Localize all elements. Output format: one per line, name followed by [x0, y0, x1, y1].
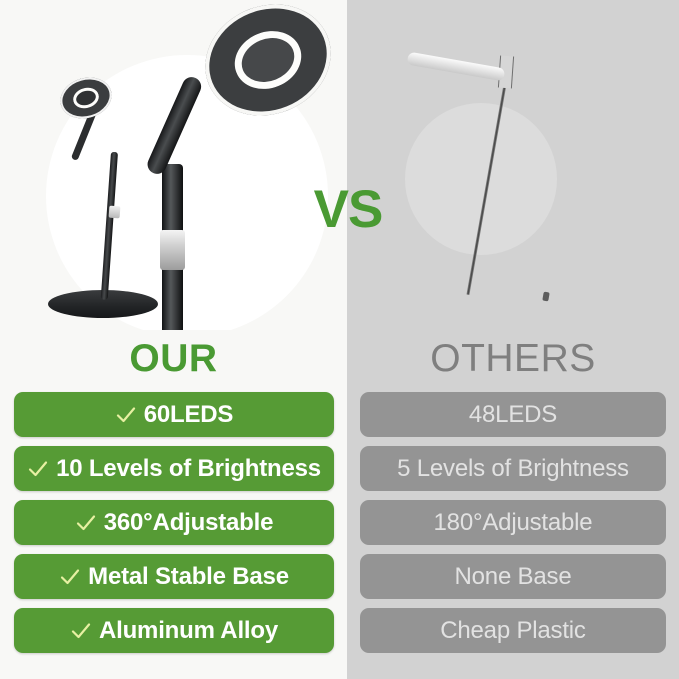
our-feature-row-3: 360°Adjustable [14, 500, 334, 545]
others-feature-row-2: 5 Levels of Brightness [360, 446, 666, 491]
others-heading: OTHERS [347, 336, 679, 382]
our-feature-row-1: 60LEDS [14, 392, 334, 437]
lamp-ring-head [55, 72, 116, 125]
others-feature-label: 180°Adjustable [434, 511, 593, 535]
our-feature-row-4: Metal Stable Base [14, 554, 334, 599]
check-icon [75, 512, 97, 534]
others-product-image [347, 0, 679, 330]
others-feature-label: Cheap Plastic [440, 619, 585, 643]
lamp-shade [407, 52, 506, 82]
others-feature-row-5: Cheap Plastic [360, 608, 666, 653]
others-feature-row-3: 180°Adjustable [360, 500, 666, 545]
lamp-neck [145, 74, 205, 177]
product-comparison-infographic: VS OUR OTHERS 60LEDS 10 Levels of Bright… [0, 0, 679, 679]
lamp-tip [542, 292, 549, 302]
lamp-collar [160, 230, 185, 270]
our-feature-label: 10 Levels of Brightness [56, 457, 321, 481]
our-product-image [0, 0, 347, 330]
vs-badge: VS [306, 183, 390, 236]
check-icon [70, 620, 92, 642]
our-feature-label: 60LEDS [144, 403, 234, 427]
check-icon [27, 458, 49, 480]
our-heading: OUR [0, 336, 347, 382]
others-feature-label: 5 Levels of Brightness [397, 457, 629, 481]
others-lamp-icon [387, 12, 617, 312]
lamp-stem [466, 76, 508, 295]
others-feature-row-4: None Base [360, 554, 666, 599]
others-feature-label: 48LEDS [469, 403, 557, 427]
our-feature-label: 360°Adjustable [104, 511, 274, 535]
our-feature-row-5: Aluminum Alloy [14, 608, 334, 653]
our-lamp-primary-icon [128, 4, 347, 330]
our-feature-list: 60LEDS 10 Levels of Brightness 360°Adjus… [14, 392, 334, 662]
our-feature-label: Metal Stable Base [88, 565, 289, 589]
our-feature-row-2: 10 Levels of Brightness [14, 446, 334, 491]
lamp-collar [109, 206, 121, 219]
others-feature-row-1: 48LEDS [360, 392, 666, 437]
others-feature-list: 48LEDS 5 Levels of Brightness 180°Adjust… [360, 392, 666, 662]
lamp-ring-head [188, 0, 347, 134]
check-icon [59, 566, 81, 588]
our-feature-label: Aluminum Alloy [99, 619, 278, 643]
lamp-pole [101, 152, 118, 300]
others-feature-label: None Base [455, 565, 572, 589]
check-icon [115, 404, 137, 426]
